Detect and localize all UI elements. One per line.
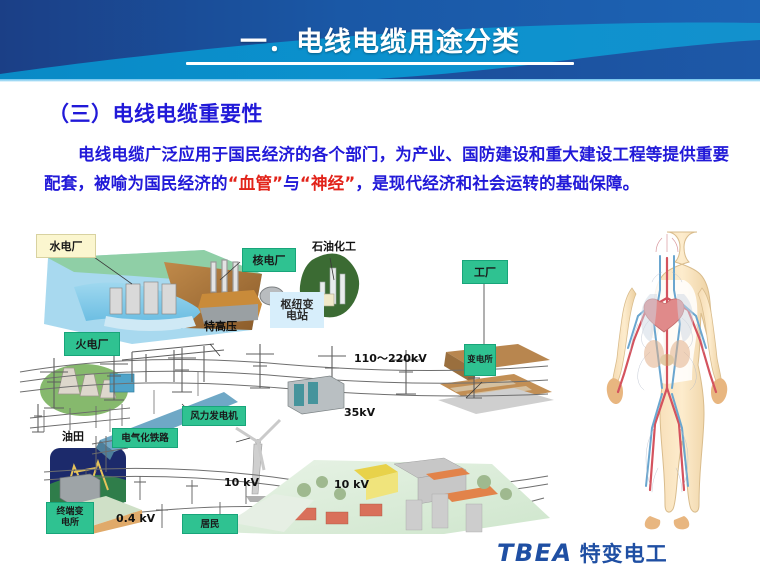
page-title: 一．电线电缆用途分类 bbox=[0, 20, 760, 59]
diagram-label-nuclear-plant: 核电厂 bbox=[242, 248, 296, 272]
town-scene bbox=[218, 458, 550, 534]
slide-root: 一．电线电缆用途分类 （三）电线电缆重要性 电线电缆广泛应用于国民经济的各个部门… bbox=[0, 0, 760, 572]
diagram-label-terminal-substation: 终端变 电所 bbox=[46, 502, 94, 534]
diagram-label-residents: 居民 bbox=[182, 514, 238, 534]
human-circulatory-system-image bbox=[592, 228, 742, 530]
diagram-label-thermal-plant: 火电厂 bbox=[64, 332, 120, 356]
slide-header-banner: 一．电线电缆用途分类 bbox=[0, 0, 760, 82]
logo-chinese-text: 特变电工 bbox=[580, 538, 668, 568]
paragraph-line-1: 电线电缆广泛应用于国民经济的各个部门，为产业、国防建设和重大建设 bbox=[78, 145, 612, 164]
diagram-label-petrochemical: 石油化工 bbox=[312, 238, 356, 254]
factory-picture bbox=[438, 344, 554, 414]
transformer-unit bbox=[288, 376, 344, 414]
diagram-voltage-0-4kv: 0.4 kV bbox=[116, 512, 155, 525]
diagram-voltage-10kv-left: 10 kV bbox=[224, 476, 259, 489]
diagram-label-factory: 工厂 bbox=[462, 260, 508, 284]
diagram-label-electrified-railway: 电气化铁路 bbox=[112, 428, 178, 448]
diagram-voltage-110-220kv: 110～220kV bbox=[354, 350, 427, 366]
paragraph-line-3: 社会运转的基础保障。 bbox=[472, 174, 639, 193]
anatomy-illustration bbox=[592, 228, 742, 530]
diagram-label-wind-turbine: 风力发电机 bbox=[182, 406, 246, 426]
logo-latin-text: TBEA bbox=[497, 539, 573, 567]
diagram-label-oilfield: 油田 bbox=[62, 428, 84, 444]
paragraph-emphasis-xueguan: “血管” bbox=[228, 174, 284, 193]
title-underline bbox=[186, 62, 574, 65]
diagram-voltage-uhv: 特高压 bbox=[204, 318, 237, 334]
header-hairline-divider bbox=[0, 79, 760, 82]
diagram-label-hydro-plant: 水电厂 bbox=[36, 234, 96, 258]
diagram-voltage-35kv: 35kV bbox=[344, 406, 375, 419]
diagram-label-substation: 变电所 bbox=[464, 344, 496, 376]
section-subheading: （三）电线电缆重要性 bbox=[48, 98, 263, 128]
power-grid-diagram: 水电厂 核电厂 火电厂 油田 石油化工 工厂 变电所 枢纽变 电站 风力发电机 … bbox=[14, 232, 554, 534]
tbea-logo: TBEA 特变电工 bbox=[497, 538, 668, 568]
paragraph-line-2-part-b: 与 bbox=[283, 174, 300, 193]
head-vessels bbox=[656, 234, 678, 252]
diagram-voltage-10kv-right: 10 kV bbox=[334, 478, 369, 491]
paragraph-line-2-part-c: ，是现代经济和 bbox=[355, 174, 472, 193]
body-paragraph: 电线电缆广泛应用于国民经济的各个部门，为产业、国防建设和重大建设工程等提供重要配… bbox=[44, 140, 734, 198]
paragraph-emphasis-shenjing: “神经” bbox=[300, 174, 356, 193]
diagram-label-hub-substation: 枢纽变 电站 bbox=[270, 292, 324, 328]
